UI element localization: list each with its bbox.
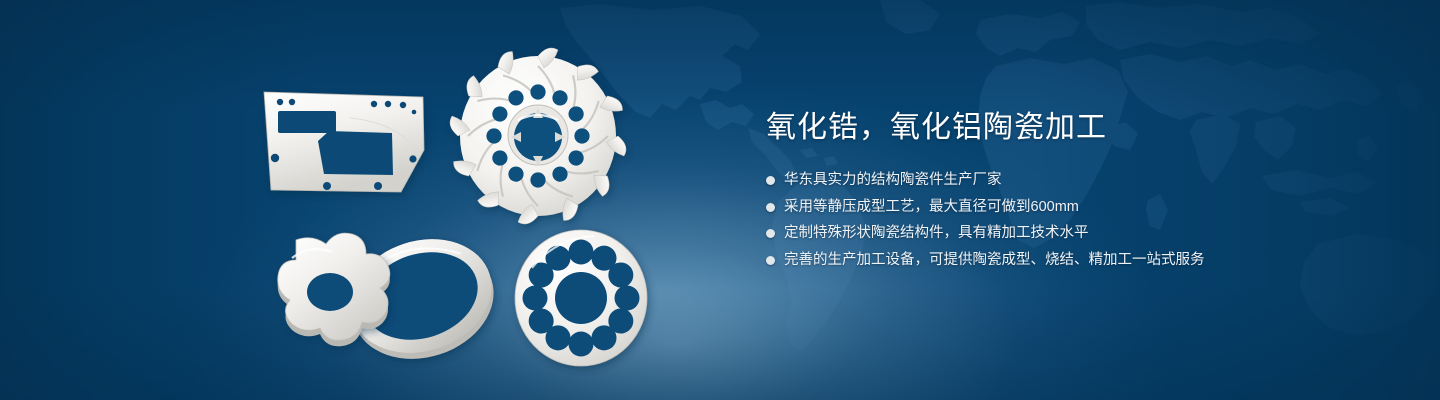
bullet-dot-icon (766, 203, 775, 212)
bullet-dot-icon (766, 256, 775, 265)
list-item: 采用等静压成型工艺，最大直径可做到600mm (766, 197, 1386, 218)
page-title: 氧化锆，氧化铝陶瓷加工 (766, 108, 1386, 148)
list-item: 华东具实力的结构陶瓷件生产厂家 (766, 170, 1386, 191)
feature-text: 华东具实力的结构陶瓷件生产厂家 (784, 170, 1002, 191)
list-item: 完善的生产加工设备，可提供陶瓷成型、烧结、精加工一站式服务 (766, 250, 1386, 271)
hero-copy: 氧化锆，氧化铝陶瓷加工 华东具实力的结构陶瓷件生产厂家 采用等静压成型工艺，最大… (766, 108, 1386, 276)
feature-text: 完善的生产加工设备，可提供陶瓷成型、烧结、精加工一站式服务 (784, 250, 1205, 271)
hero-banner: 氧化锆，氧化铝陶瓷加工 华东具实力的结构陶瓷件生产厂家 采用等静压成型工艺，最大… (0, 0, 1440, 400)
product-images-svg (0, 0, 760, 400)
bullet-dot-icon (766, 229, 775, 238)
product-images-group (0, 0, 760, 400)
list-item: 定制特殊形状陶瓷结构件，具有精加工技术水平 (766, 223, 1386, 244)
ceramic-perforated-disc (515, 230, 647, 366)
feature-text: 采用等静压成型工艺，最大直径可做到600mm (784, 197, 1079, 218)
feature-list: 华东具实力的结构陶瓷件生产厂家 采用等静压成型工艺，最大直径可做到600mm 定… (766, 170, 1386, 271)
feature-text: 定制特殊形状陶瓷结构件，具有精加工技术水平 (784, 223, 1089, 244)
ceramic-impeller (450, 48, 626, 224)
ceramic-machined-plate (264, 92, 424, 192)
bullet-dot-icon (766, 176, 775, 185)
